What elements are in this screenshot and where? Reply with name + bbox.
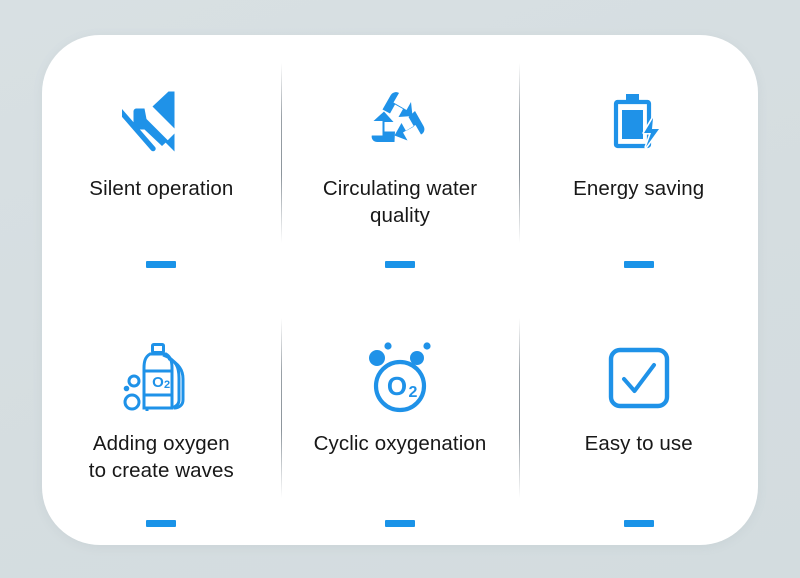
feature-label: Easy to use [585, 430, 693, 457]
feature-item-silent-operation[interactable]: Silent operation [42, 35, 281, 290]
svg-text:O: O [387, 371, 407, 401]
feature-item-energy-saving[interactable]: Energy saving [519, 35, 758, 290]
svg-text:2: 2 [164, 379, 170, 391]
feature-label: Energy saving [573, 175, 704, 202]
oxygen-bubble-icon: O 2 [359, 332, 441, 424]
checkbox-check-icon [603, 332, 675, 424]
accent-dash [624, 520, 654, 527]
feature-label: Circulating water quality [323, 175, 477, 229]
svg-text:O: O [152, 374, 164, 391]
feature-label: Adding oxygen to create waves [89, 430, 234, 484]
feature-item-circulating-water-quality[interactable]: Circulating water quality [281, 35, 520, 290]
feature-item-adding-oxygen[interactable]: O 2 Adding oxygen to create waves [42, 290, 281, 545]
svg-text:2: 2 [409, 384, 418, 401]
page-background: Silent operation [0, 0, 800, 578]
accent-dash [624, 261, 654, 268]
oxygen-tank-icon: O 2 [121, 332, 201, 424]
accent-dash [146, 520, 176, 527]
accent-dash [385, 520, 415, 527]
feature-label: Cyclic oxygenation [314, 430, 487, 457]
accent-dash [385, 261, 415, 268]
feature-row-2: O 2 Adding oxygen to create waves [42, 290, 758, 545]
feature-label: Silent operation [89, 175, 233, 202]
feature-item-cyclic-oxygenation[interactable]: O 2 Cyclic oxygenation [281, 290, 520, 545]
feature-row-1: Silent operation [42, 35, 758, 290]
battery-charge-icon [601, 77, 677, 169]
feature-item-easy-to-use[interactable]: Easy to use [519, 290, 758, 545]
feature-grid: Silent operation [42, 35, 758, 545]
feature-card: Silent operation [42, 35, 758, 545]
mute-speaker-icon [122, 77, 200, 169]
accent-dash [146, 261, 176, 268]
recycle-icon [360, 77, 440, 169]
